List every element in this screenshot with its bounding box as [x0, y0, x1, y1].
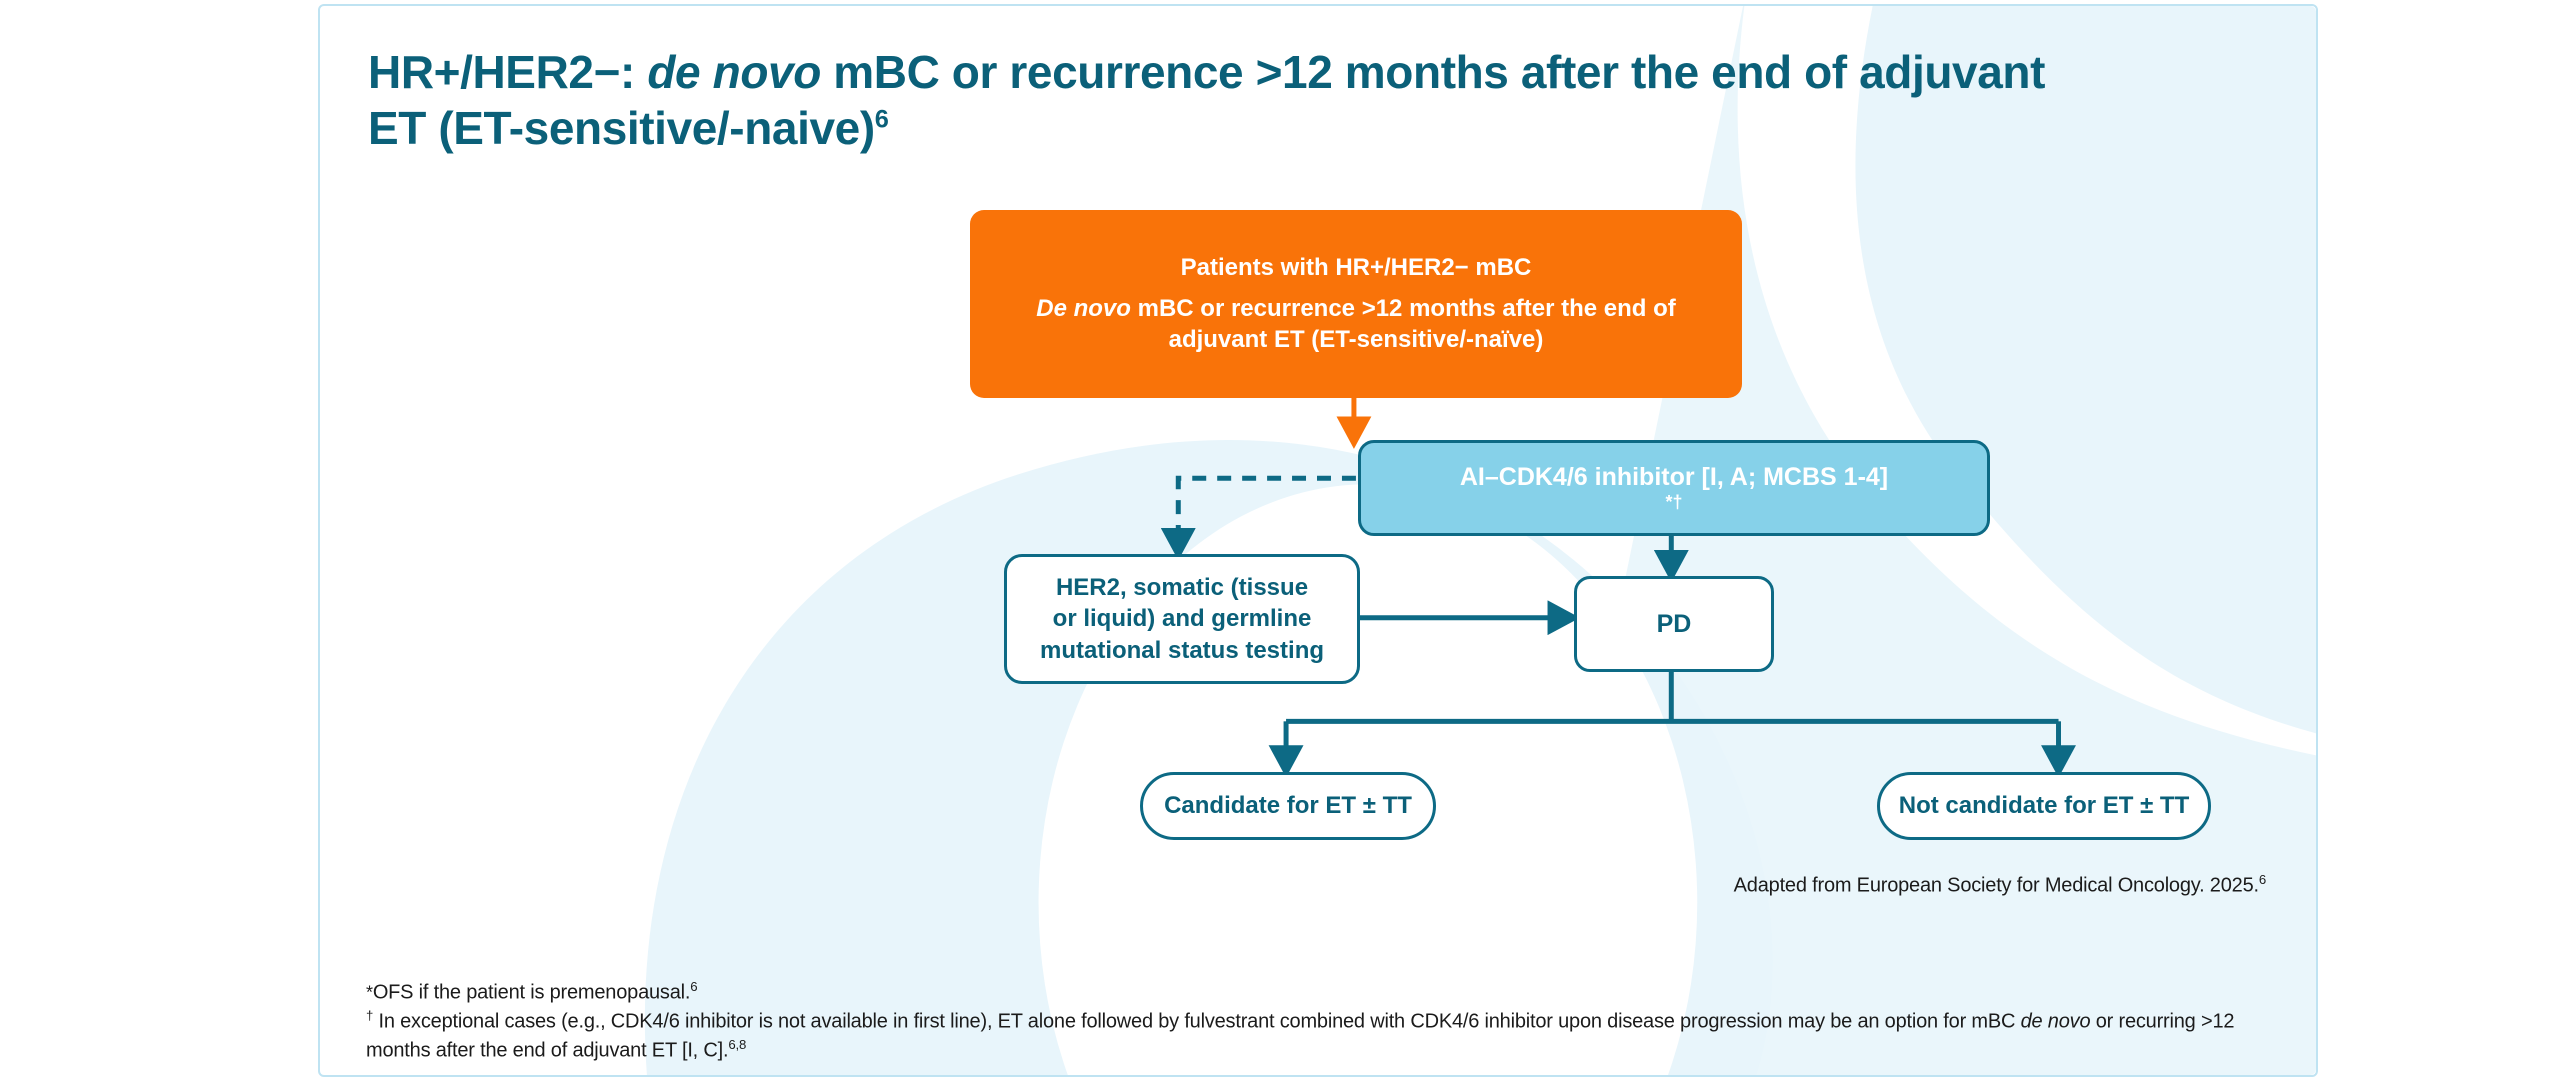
title-italic-de-novo: de novo	[647, 46, 821, 98]
attribution-reference: 6	[2259, 872, 2266, 887]
footnote-asterisk: *OFS if the patient is premenopausal.6	[366, 978, 2266, 1007]
swoosh-shape-lower	[1518, 6, 2316, 1075]
testing-line-3: mutational status testing	[1040, 635, 1324, 666]
footnote-dagger-text-a: In exceptional cases (e.g., CDK4/6 inhib…	[373, 1011, 2020, 1033]
testing-line-1: HER2, somatic (tissue	[1056, 572, 1308, 603]
footnote-dagger: † In exceptional cases (e.g., CDK4/6 inh…	[366, 1007, 2266, 1065]
diagram-card: HR+/HER2−: de novo mBC or recurrence >12…	[318, 4, 2318, 1077]
slide-root: HR+/HER2−: de novo mBC or recurrence >12…	[0, 0, 2560, 1081]
node-mutational-testing: HER2, somatic (tissue or liquid) and ger…	[1004, 554, 1360, 684]
treatment-label: AI–CDK4/6 inhibitor [I, A; MCBS 1-4]	[1460, 463, 1888, 492]
population-italic-de-novo: De novo	[1036, 295, 1131, 322]
candidate-label: Candidate for ET ± TT	[1164, 792, 1412, 820]
footnote-asterisk-mark: *	[366, 983, 373, 1003]
treatment-footnote-marks: *†	[1665, 492, 1682, 513]
background-decoration	[320, 6, 2316, 1075]
node-not-candidate-for-et-tt: Not candidate for ET ± TT	[1877, 772, 2211, 840]
footnotes-block: *OFS if the patient is premenopausal.6 †…	[366, 978, 2266, 1065]
page-title: HR+/HER2−: de novo mBC or recurrence >12…	[368, 44, 2068, 156]
footnote-asterisk-ref: 6	[690, 979, 697, 994]
population-line-2-rest: mBC or recurrence >12 months after the e…	[1131, 295, 1676, 353]
population-line-1: Patients with HR+/HER2− mBC	[1181, 253, 1532, 283]
attribution-text: Adapted from European Society for Medica…	[1734, 875, 2259, 897]
title-segment-1: HR+/HER2−:	[368, 46, 647, 98]
not-candidate-label: Not candidate for ET ± TT	[1899, 792, 2190, 820]
node-progressive-disease: PD	[1574, 576, 1774, 672]
footnote-dagger-italic: de novo	[2021, 1011, 2091, 1033]
title-reference: 6	[875, 106, 889, 134]
node-patient-population: Patients with HR+/HER2− mBC De novo mBC …	[970, 210, 1742, 398]
connector-treatment-to-testing-dashed	[1178, 478, 1356, 534]
source-attribution: Adapted from European Society for Medica…	[1734, 872, 2266, 898]
footnote-dagger-ref: 6,8	[728, 1037, 746, 1052]
node-ai-cdk46-inhibitor: AI–CDK4/6 inhibitor [I, A; MCBS 1-4]*†	[1358, 440, 1990, 536]
population-line-2: De novo mBC or recurrence >12 months aft…	[998, 293, 1714, 355]
flow-connectors	[320, 6, 2316, 1075]
pd-label: PD	[1657, 610, 1692, 639]
node-candidate-for-et-tt: Candidate for ET ± TT	[1140, 772, 1436, 840]
footnote-asterisk-text: OFS if the patient is premenopausal.	[373, 982, 690, 1004]
testing-line-2: or liquid) and germline	[1053, 603, 1312, 634]
